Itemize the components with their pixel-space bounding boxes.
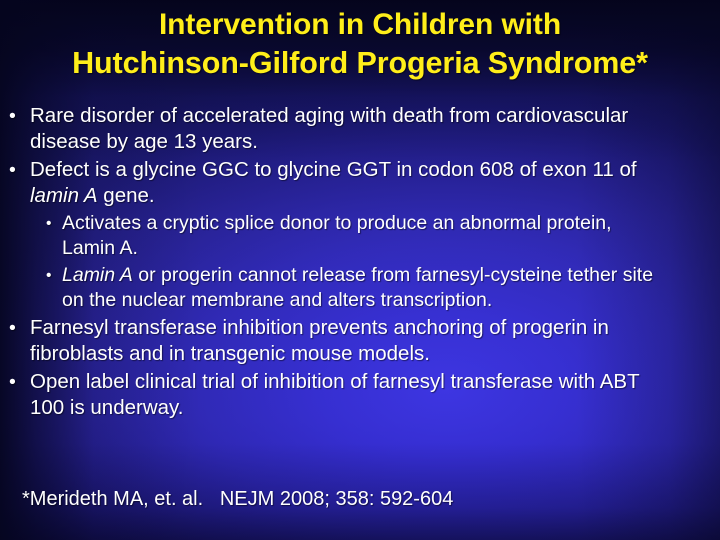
bullet-item: •Activates a cryptic splice donor to pro… bbox=[0, 211, 720, 261]
plain-text: Farnesyl transferase inhibition prevents… bbox=[30, 316, 609, 365]
bullet-text: Defect is a glycine GGC to glycine GGT i… bbox=[30, 157, 640, 209]
plain-text: Rare disorder of accelerated aging with … bbox=[30, 104, 628, 153]
plain-text: Defect is a glycine GGC to glycine GGT i… bbox=[30, 158, 637, 181]
bullet-marker-icon: • bbox=[46, 211, 62, 236]
bullet-item: •Defect is a glycine GGC to glycine GGT … bbox=[0, 157, 720, 209]
bullet-text: Activates a cryptic splice donor to prod… bbox=[62, 211, 662, 261]
bullet-item: •Open label clinical trial of inhibition… bbox=[0, 369, 720, 421]
title-line-1: Intervention in Children with bbox=[0, 6, 720, 44]
slide-title: Intervention in Children with Hutchinson… bbox=[0, 6, 720, 82]
emphasis-text: lamin A bbox=[30, 184, 98, 207]
plain-text: Activates a cryptic splice donor to prod… bbox=[62, 212, 612, 259]
bullet-marker-icon: • bbox=[46, 263, 62, 288]
presentation-slide: Intervention in Children with Hutchinson… bbox=[0, 0, 720, 540]
bullet-text: Rare disorder of accelerated aging with … bbox=[30, 103, 640, 155]
bullet-text: Open label clinical trial of inhibition … bbox=[30, 369, 640, 421]
citation-footer: *Merideth MA, et. al. NEJM 2008; 358: 59… bbox=[22, 486, 453, 512]
plain-text: gene. bbox=[98, 184, 155, 207]
bullet-text: Lamin A or progerin cannot release from … bbox=[62, 263, 662, 313]
plain-text: or progerin cannot release from farnesyl… bbox=[62, 264, 653, 311]
bullet-item: •Rare disorder of accelerated aging with… bbox=[0, 103, 720, 155]
bullet-item: •Farnesyl transferase inhibition prevent… bbox=[0, 315, 720, 367]
bullet-marker-icon: • bbox=[9, 315, 30, 341]
bullet-marker-icon: • bbox=[9, 103, 30, 129]
plain-text: Open label clinical trial of inhibition … bbox=[30, 370, 639, 419]
bullet-marker-icon: • bbox=[9, 157, 30, 183]
title-line-2: Hutchinson-Gilford Progeria Syndrome* bbox=[0, 44, 720, 82]
emphasis-text: Lamin A bbox=[62, 264, 133, 286]
bullet-list: •Rare disorder of accelerated aging with… bbox=[0, 103, 720, 423]
bullet-item: •Lamin A or progerin cannot release from… bbox=[0, 263, 720, 313]
bullet-text: Farnesyl transferase inhibition prevents… bbox=[30, 315, 640, 367]
bullet-marker-icon: • bbox=[9, 369, 30, 395]
